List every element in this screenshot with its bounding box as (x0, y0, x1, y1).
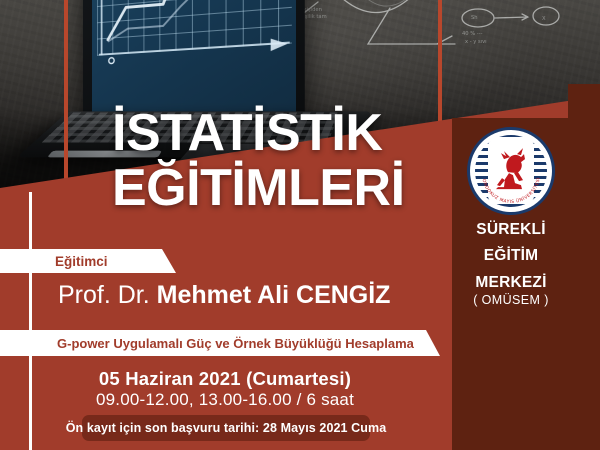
topic-ribbon: G-power Uygulamalı Güç ve Örnek Büyüklüğ… (0, 330, 440, 356)
omusem-logo-block: ONDOKUZ MAYIS ÜNİVERSİTESİ SÜREKLİ EĞİTİ… (462, 130, 560, 307)
svg-text:ONDOKUZ MAYIS ÜNİVERSİTESİ: ONDOKUZ MAYIS ÜNİVERSİTESİ (481, 177, 542, 205)
emblem-ring-text: ONDOKUZ MAYIS ÜNİVERSİTESİ (470, 130, 552, 212)
omusem-abbreviation: ( OMÜSEM ) (462, 293, 560, 307)
title-line-2: EĞİTİMLERİ (112, 163, 472, 214)
poster-canvas: 500 kişiden 50 kişilik tam 40 % --- x - … (0, 0, 600, 450)
instructor-name-row: Prof. Dr. Mehmet Ali CENGİZ (58, 281, 390, 310)
deep-maroon-right-strip (568, 84, 600, 450)
omusem-line-1: SÜREKLİ (462, 221, 560, 238)
left-white-divider (29, 192, 32, 450)
page-title: İSTATİSTİK EĞİTİMLERİ (112, 108, 472, 214)
ring-text-value: ONDOKUZ MAYIS ÜNİVERSİTESİ (481, 177, 542, 205)
instructor-name: Mehmet Ali CENGİZ (157, 281, 391, 309)
deadline-text: Ön kayıt için son başvuru tarihi: 28 May… (66, 421, 387, 435)
deadline-badge: Ön kayıt için son başvuru tarihi: 28 May… (82, 415, 370, 441)
instructor-prefix: Prof. Dr. (58, 281, 150, 309)
topic-ribbon-label: G-power Uygulamalı Güç ve Örnek Büyüklüğ… (57, 336, 414, 351)
laptop-screen (92, 0, 296, 121)
instructor-ribbon-label: Eğitimci (55, 254, 108, 269)
omusem-line-2: EĞİTİM (462, 247, 560, 264)
university-emblem-icon: ONDOKUZ MAYIS ÜNİVERSİTESİ (470, 130, 552, 212)
omusem-line-3: MERKEZİ (462, 274, 560, 291)
title-line-1: İSTATİSTİK (112, 108, 472, 159)
schedule-time: 09.00-12.00, 13.00-16.00 / 6 saat (0, 390, 450, 410)
instructor-ribbon: Eğitimci (0, 249, 176, 273)
schedule-date: 05 Haziran 2021 (Cumartesi) (0, 368, 450, 390)
screen-line-chart (92, 0, 296, 121)
